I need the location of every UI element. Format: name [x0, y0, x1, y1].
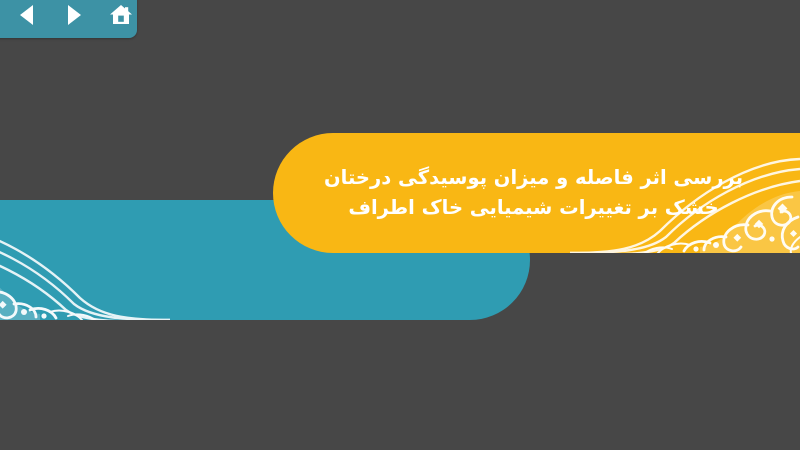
orange-banner: بررسی اثر فاصله و میزان پوسیدگی درختان خ…	[273, 133, 800, 253]
home-button[interactable]	[104, 0, 137, 32]
previous-slide-button[interactable]	[10, 0, 43, 32]
triangle-left-icon	[17, 4, 37, 26]
arabesque-corner-ornament	[570, 133, 800, 253]
home-icon	[108, 3, 134, 27]
next-slide-button[interactable]	[57, 0, 90, 32]
triangle-right-icon	[64, 4, 84, 26]
slide-navigation-bar	[0, 0, 137, 38]
presentation-slide: بررسی اثر فاصله و میزان پوسیدگی درختان خ…	[0, 0, 800, 450]
arabesque-corner-ornament	[0, 200, 170, 320]
